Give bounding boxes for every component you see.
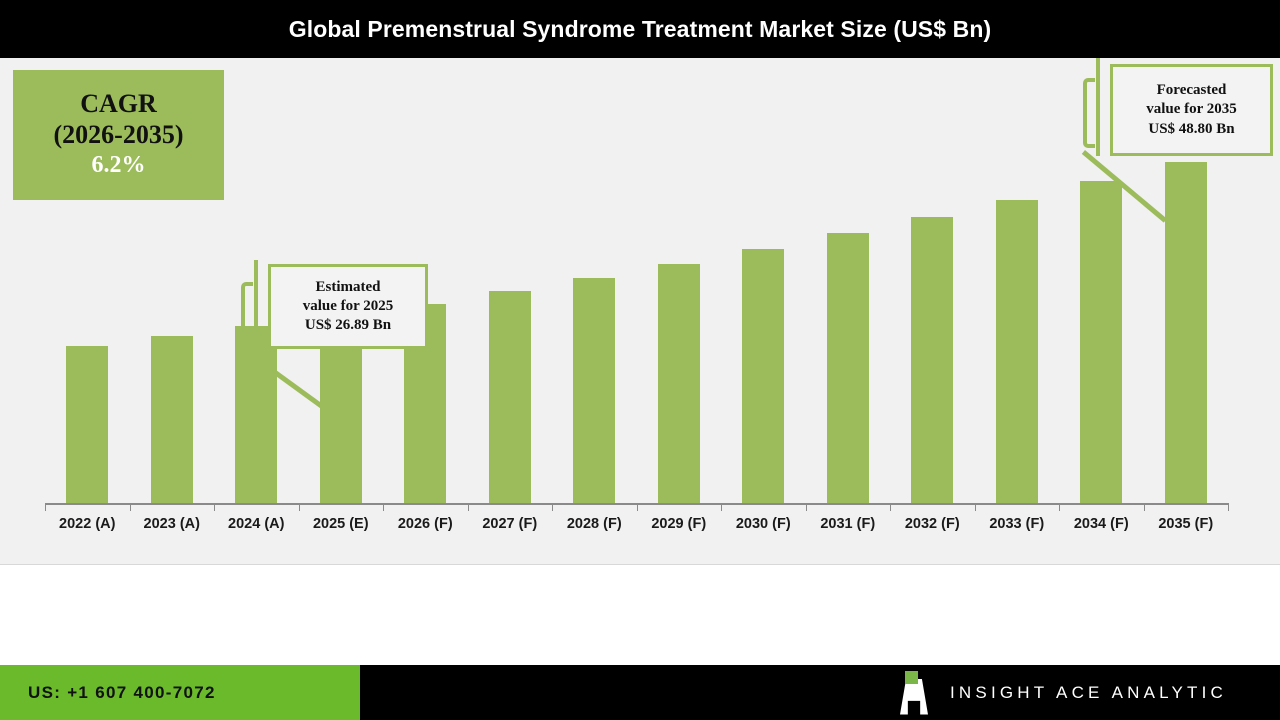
x-axis-tick	[806, 503, 807, 511]
x-axis-tick	[468, 503, 469, 511]
brand-accent-square	[905, 671, 918, 684]
x-axis-label-2029f: 2029 (F)	[637, 516, 722, 532]
forecast-callout-line2: value for 2035	[1146, 100, 1237, 119]
x-axis-tick	[721, 503, 722, 511]
x-axis-tick	[1059, 503, 1060, 511]
x-axis-label-2033f: 2033 (F)	[975, 516, 1060, 532]
estimated-callout-bracket-bar	[254, 260, 258, 354]
phone-block[interactable]: US: +1 607 400-7072	[0, 665, 360, 720]
x-axis-tick	[45, 503, 46, 511]
x-axis-tick	[1228, 503, 1229, 511]
bar-2035f	[1165, 162, 1207, 503]
estimated-callout-line2: value for 2025	[303, 297, 394, 316]
estimated-callout-line1: Estimated	[316, 278, 381, 297]
bar-2027f	[489, 291, 531, 503]
cagr-value: 6.2%	[92, 150, 146, 180]
insight-ace-logo-icon	[900, 671, 928, 715]
x-axis-label-2027f: 2027 (F)	[468, 516, 553, 532]
cagr-badge: CAGR (2026-2035) 6.2%	[13, 70, 224, 200]
bar-2032f	[911, 217, 953, 503]
forecast-callout-line1: Forecasted	[1157, 81, 1227, 100]
x-axis-label-2026f: 2026 (F)	[383, 516, 468, 532]
estimated-callout-bracket	[241, 282, 253, 342]
bar-2028f	[573, 278, 615, 503]
x-axis-label-2035f: 2035 (F)	[1144, 516, 1229, 532]
x-axis-tick	[130, 503, 131, 511]
bar-2031f	[827, 233, 869, 503]
x-axis-tick	[890, 503, 891, 511]
x-axis-tick	[975, 503, 976, 511]
forecast-callout-bracket	[1083, 78, 1095, 148]
cagr-label: CAGR	[80, 90, 157, 119]
bar-2029f	[658, 264, 700, 503]
market-contributors-strip: Market Contributors: SHIONOGI BASF We cr…	[0, 566, 1280, 665]
x-axis-tick	[214, 503, 215, 511]
bar-2023a	[151, 336, 193, 503]
brand-a-glyph	[900, 679, 928, 715]
x-axis-tick	[299, 503, 300, 511]
forecast-callout-bracket-bar	[1096, 58, 1100, 156]
x-axis-tick	[637, 503, 638, 511]
x-axis-tick	[383, 503, 384, 511]
x-axis-label-2023a: 2023 (A)	[130, 516, 215, 532]
x-axis-label-2025e: 2025 (E)	[299, 516, 384, 532]
forecast-callout-box: Forecasted value for 2035 US$ 48.80 Bn	[1110, 64, 1273, 156]
x-axis-label-2031f: 2031 (F)	[806, 516, 891, 532]
page-title: Global Premenstrual Syndrome Treatment M…	[289, 16, 991, 43]
x-axis-label-2032f: 2032 (F)	[890, 516, 975, 532]
bar-2022a	[66, 346, 108, 503]
x-axis-label-2024a: 2024 (A)	[214, 516, 299, 532]
estimated-callout-line3: US$ 26.89 Bn	[305, 316, 391, 335]
bar-2034f	[1080, 181, 1122, 503]
x-axis-label-2022a: 2022 (A)	[45, 516, 130, 532]
chart-panel: 2022 (A)2023 (A)2024 (A)2025 (E)2026 (F)…	[0, 58, 1280, 565]
forecast-callout-line3: US$ 48.80 Bn	[1148, 120, 1234, 139]
footer-bar: US: +1 607 400-7072 INSIGHT ACE ANALYTIC	[0, 665, 1280, 720]
x-axis-label-2028f: 2028 (F)	[552, 516, 637, 532]
cagr-period: (2026-2035)	[54, 119, 184, 150]
bar-2030f	[742, 249, 784, 503]
title-bar: Global Premenstrual Syndrome Treatment M…	[0, 0, 1280, 58]
bar-2033f	[996, 200, 1038, 503]
phone-number: US: +1 607 400-7072	[28, 683, 216, 703]
x-axis-tick	[1144, 503, 1145, 511]
estimated-callout-box: Estimated value for 2025 US$ 26.89 Bn	[268, 264, 428, 349]
x-axis-label-2030f: 2030 (F)	[721, 516, 806, 532]
brand-name: INSIGHT ACE ANALYTIC	[950, 683, 1227, 703]
x-axis-label-2034f: 2034 (F)	[1059, 516, 1144, 532]
x-axis-tick	[552, 503, 553, 511]
brand-block: INSIGHT ACE ANALYTIC	[900, 665, 1227, 720]
